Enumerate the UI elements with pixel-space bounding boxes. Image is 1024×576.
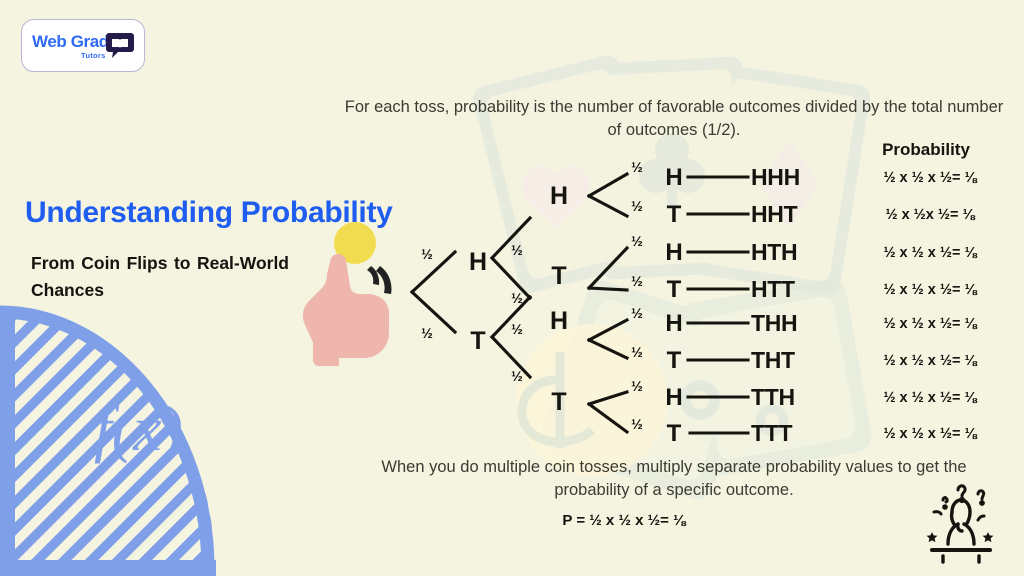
summary-formula: P = ½ x ½ x ½= ⅛ <box>344 512 904 529</box>
tree-node-l3-7: H <box>660 384 688 412</box>
fx-label: f(x) <box>94 392 183 466</box>
branch-label-l3-8: ½ <box>624 416 650 432</box>
probability-column-header: Probability <box>856 140 996 160</box>
outcome-label-4: HTT <box>751 276 841 303</box>
branch-label-l2-th: ½ <box>504 321 530 337</box>
infographic-canvas: Web Grade Tutors Understanding Probabili… <box>0 0 1024 576</box>
tree-node-l2-tt: T <box>545 388 573 417</box>
branch-label-l3-3: ½ <box>624 233 650 249</box>
tree-node-l3-8: T <box>660 420 688 448</box>
tree-node-l2-hh: H <box>545 182 573 211</box>
branch-label-l3-4: ½ <box>624 273 650 289</box>
page-subtitle-text: From Coin Flips to Real-World Chances <box>31 253 289 300</box>
tree-node-l3-4: T <box>660 276 688 304</box>
branch-label-l1-t: ½ <box>414 325 440 341</box>
branch-label-l2-hh: ½ <box>504 242 530 258</box>
lead-paragraph: For each toss, probability is the number… <box>344 96 1004 142</box>
tree-node-l2-th: H <box>545 307 573 336</box>
page-subtitle: From Coin Flips to Real-World Chances <box>31 250 289 304</box>
outcome-label-3: HTH <box>751 239 841 266</box>
branch-label-l3-6: ½ <box>624 344 650 360</box>
outcome-label-5: THH <box>751 310 841 337</box>
probability-value-2: ½ x ½x ½= ⅛ <box>848 207 1012 223</box>
branch-label-l2-tt: ½ <box>504 368 530 384</box>
brand-logo[interactable]: Web Grade Tutors <box>21 19 145 72</box>
tree-node-l3-6: T <box>660 347 688 375</box>
probability-value-8: ½ x ½ x ½= ⅛ <box>848 426 1012 442</box>
branch-label-l2-ht: ½ <box>504 290 530 306</box>
outcome-label-1: HHH <box>751 164 841 191</box>
branch-label-l1-h: ½ <box>414 246 440 262</box>
probability-value-5: ½ x ½ x ½= ⅛ <box>848 316 1012 332</box>
outcome-label-8: TTT <box>751 420 841 447</box>
person-thinking-with-question-marks-icon <box>912 478 1008 564</box>
tree-node-l3-3: H <box>660 239 688 267</box>
branch-label-l3-1: ½ <box>624 159 650 175</box>
probability-value-3: ½ x ½ x ½= ⅛ <box>848 245 1012 261</box>
branch-label-l3-7: ½ <box>624 378 650 394</box>
probability-value-6: ½ x ½ x ½= ⅛ <box>848 353 1012 369</box>
outcome-label-7: TTH <box>751 384 841 411</box>
tree-node-l3-1: H <box>660 164 688 192</box>
tree-node-l1-t: T <box>464 327 492 356</box>
brand-name-secondary: Tutors <box>81 51 106 60</box>
tree-node-l3-5: H <box>660 310 688 338</box>
tree-node-l1-h: H <box>464 248 492 277</box>
branch-label-l3-5: ½ <box>624 305 650 321</box>
tree-node-l2-ht: T <box>545 262 573 291</box>
branch-label-l3-2: ½ <box>624 198 650 214</box>
page-title: Understanding Probability <box>25 196 495 230</box>
tree-node-l3-2: T <box>660 201 688 229</box>
probability-value-4: ½ x ½ x ½= ⅛ <box>848 282 1012 298</box>
book-speech-bubble-icon <box>105 30 135 60</box>
probability-value-1: ½ x ½ x ½= ⅛ <box>848 170 1012 186</box>
outcome-label-6: THT <box>751 347 841 374</box>
closing-paragraph: When you do multiple coin tosses, multip… <box>344 456 1004 502</box>
probability-value-7: ½ x ½ x ½= ⅛ <box>848 390 1012 406</box>
outcome-label-2: HHT <box>751 201 841 228</box>
